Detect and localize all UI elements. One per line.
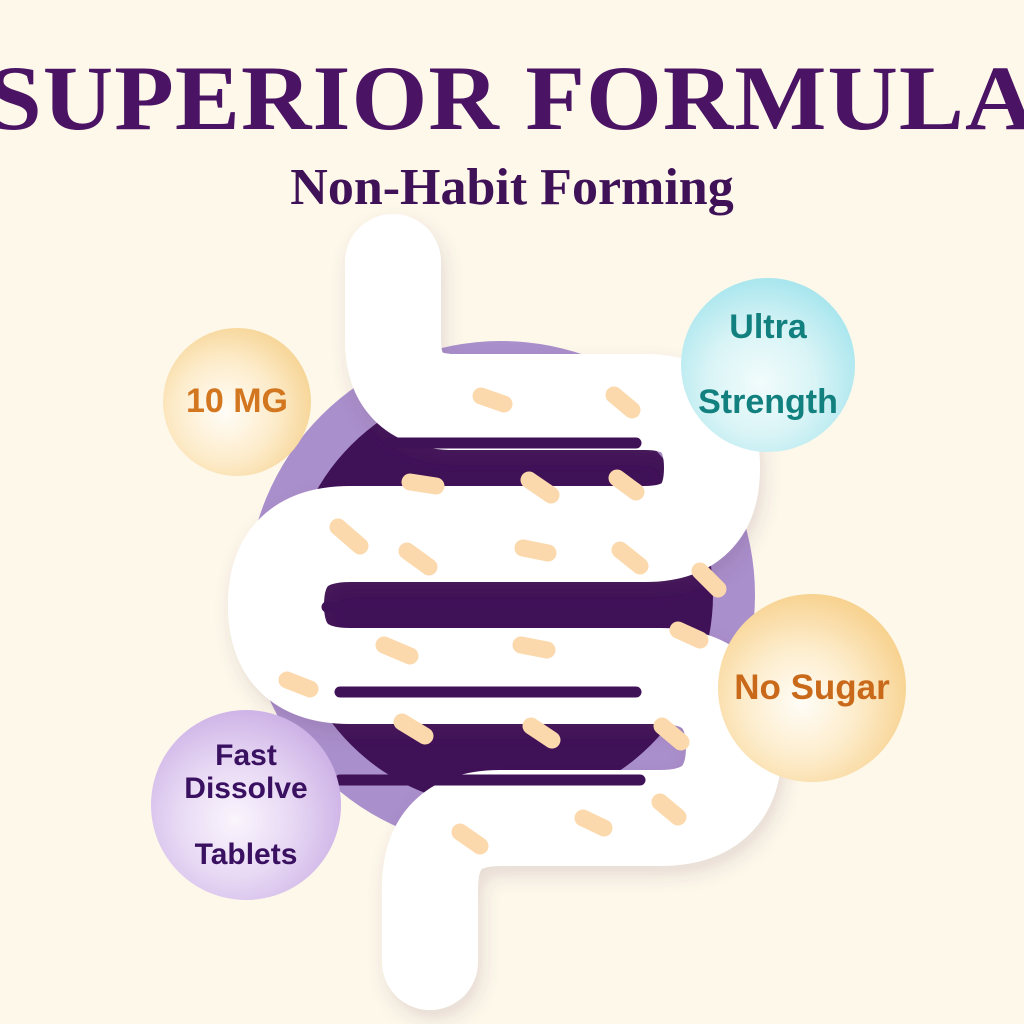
badge-ultra-strength-line2: Strength — [692, 384, 844, 421]
page-subtitle: Non-Habit Forming — [0, 162, 1024, 214]
badge-no-sugar-label: No Sugar — [728, 669, 896, 708]
headline-block: SUPERIOR FORMULA Non-Habit Forming — [0, 52, 1024, 214]
badge-dosage-label: 10 MG — [180, 383, 294, 420]
badge-fast-dissolve-label: Fast Dissolve Tablets — [151, 739, 341, 871]
badge-fast-dissolve-line1: Fast Dissolve — [157, 739, 335, 805]
badge-ultra-strength: Ultra Strength — [681, 278, 855, 452]
badge-fast-dissolve-line2: Tablets — [157, 838, 335, 871]
page-title: SUPERIOR FORMULA — [0, 52, 1024, 144]
badge-fast-dissolve: Fast Dissolve Tablets — [151, 710, 341, 900]
poster-canvas: SUPERIOR FORMULA Non-Habit Forming 10 MG… — [0, 0, 1024, 1024]
badge-ultra-strength-line1: Ultra — [692, 309, 844, 346]
badge-ultra-strength-label: Ultra Strength — [686, 309, 850, 421]
badge-no-sugar: No Sugar — [718, 594, 906, 782]
badge-dosage: 10 MG — [163, 328, 311, 476]
